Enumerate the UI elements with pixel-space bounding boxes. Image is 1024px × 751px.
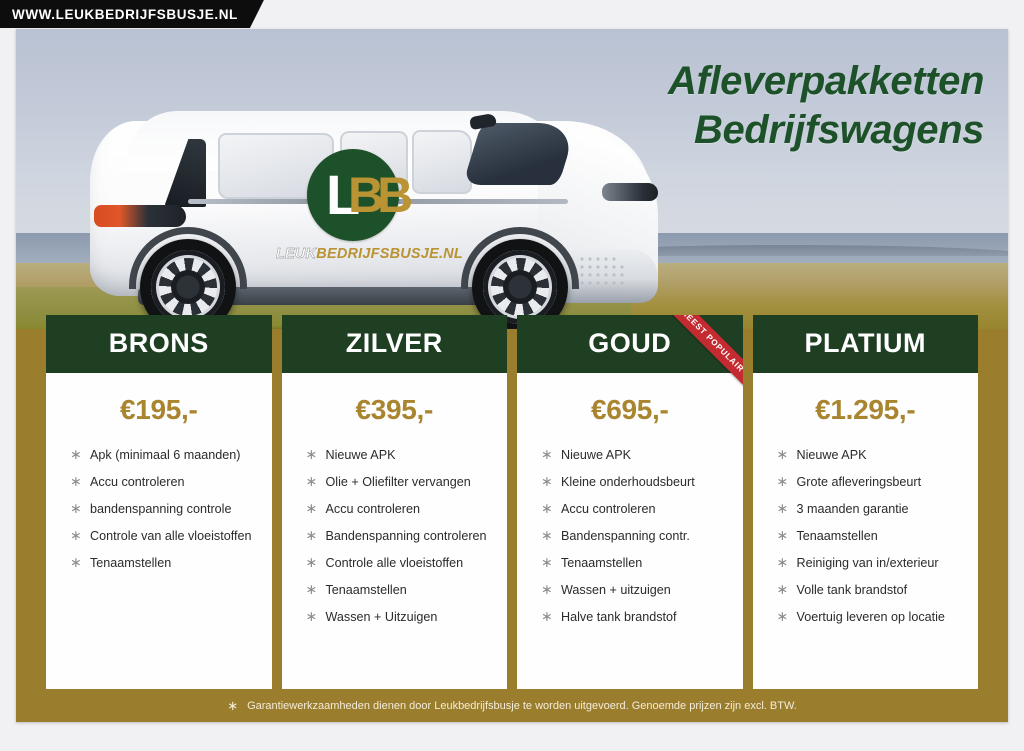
package-price: €695,- xyxy=(517,394,743,426)
wheel-hub xyxy=(503,270,537,304)
pricing-card-goud[interactable]: GOUD MEEST POPULAIR €695,- Nieuwe APK Kl… xyxy=(517,315,743,689)
card-body: €395,- Nieuwe APK Olie + Oliefilter verv… xyxy=(282,373,508,689)
list-item: Bandenspanning controleren xyxy=(304,529,498,543)
card-body: €195,- Apk (minimaal 6 maanden) Accu con… xyxy=(46,373,272,689)
logo-url: LEUKBEDRIJFSBUSJE.NL xyxy=(276,246,430,262)
logo-circle-icon: L BB xyxy=(307,149,399,241)
package-price: €1.295,- xyxy=(753,394,979,426)
van-taillight xyxy=(94,205,186,227)
company-logo: L BB LEUKBEDRIJFSBUSJE.NL xyxy=(276,149,430,262)
package-name: BRONS xyxy=(109,328,209,358)
pricing-card-brons[interactable]: BRONS €195,- Apk (minimaal 6 maanden) Ac… xyxy=(46,315,272,689)
pricing-card-zilver[interactable]: ZILVER €395,- Nieuwe APK Olie + Oliefilt… xyxy=(282,315,508,689)
list-item: Controle alle vloeistoffen xyxy=(304,556,498,570)
list-item: Voertuig leveren op locatie xyxy=(775,610,969,624)
flyer-card: L BB LEUKBEDRIJFSBUSJE.NL Afleverpakkett… xyxy=(16,29,1008,722)
card-header: ZILVER xyxy=(282,315,508,373)
package-price: €195,- xyxy=(46,394,272,426)
logo-url-part2: BEDRIJFSBUSJE.NL xyxy=(316,246,463,262)
list-item: Kleine onderhoudsbeurt xyxy=(539,475,733,489)
feature-list: Apk (minimaal 6 maanden) Accu controlere… xyxy=(46,448,272,570)
list-item: Volle tank brandstof xyxy=(775,583,969,597)
list-item: Accu controleren xyxy=(539,502,733,516)
pricing-card-platium[interactable]: PLATIUM €1.295,- Nieuwe APK Grote afleve… xyxy=(753,315,979,689)
feature-list: Nieuwe APK Olie + Oliefilter vervangen A… xyxy=(282,448,508,624)
list-item: Apk (minimaal 6 maanden) xyxy=(68,448,262,462)
feature-list: Nieuwe APK Grote afleveringsbeurt 3 maan… xyxy=(753,448,979,624)
list-item: Tenaamstellen xyxy=(539,556,733,570)
list-item: Nieuwe APK xyxy=(304,448,498,462)
van-windshield xyxy=(463,123,578,185)
package-name: PLATIUM xyxy=(805,328,926,358)
list-item: Tenaamstellen xyxy=(68,556,262,570)
list-item: bandenspanning controle xyxy=(68,502,262,516)
pricing-grid: BRONS €195,- Apk (minimaal 6 maanden) Ac… xyxy=(16,315,1008,689)
list-item: Grote afleveringsbeurt xyxy=(775,475,969,489)
list-item: Reiniging van in/exterieur xyxy=(775,556,969,570)
site-url-text: WWW.LEUKBEDRIJFSBUSJE.NL xyxy=(12,7,238,22)
headline-line-1: Afleverpakketten xyxy=(668,57,984,106)
list-item: Wassen + Uitzuigen xyxy=(304,610,498,624)
card-header: BRONS xyxy=(46,315,272,373)
card-header: GOUD xyxy=(517,315,743,373)
list-item: Nieuwe APK xyxy=(539,448,733,462)
footer-disclaimer: ∗ Garantiewerkzaamheden dienen door Leuk… xyxy=(16,689,1008,722)
footer-bullet-icon: ∗ xyxy=(227,698,238,714)
list-item: Wassen + uitzuigen xyxy=(539,583,733,597)
list-item: 3 maanden garantie xyxy=(775,502,969,516)
list-item: Accu controleren xyxy=(68,475,262,489)
van-grille xyxy=(578,255,624,297)
page-root: WWW.LEUKBEDRIJFSBUSJE.NL xyxy=(0,0,1024,751)
site-url-banner: WWW.LEUKBEDRIJFSBUSJE.NL xyxy=(0,0,264,28)
package-name: ZILVER xyxy=(346,328,443,358)
card-body: €695,- Nieuwe APK Kleine onderhoudsbeurt… xyxy=(517,373,743,689)
list-item: Controle van alle vloeistoffen xyxy=(68,529,262,543)
feature-list: Nieuwe APK Kleine onderhoudsbeurt Accu c… xyxy=(517,448,743,624)
list-item: Accu controleren xyxy=(304,502,498,516)
list-item: Olie + Oliefilter vervangen xyxy=(304,475,498,489)
package-price: €395,- xyxy=(282,394,508,426)
footer-note-text: Garantiewerkzaamheden dienen door Leukbe… xyxy=(247,700,797,712)
hero-photo: L BB LEUKBEDRIJFSBUSJE.NL Afleverpakkett… xyxy=(16,29,1008,329)
logo-url-part1: LEUK xyxy=(276,246,316,262)
hero-headline: Afleverpakketten Bedrijfswagens xyxy=(668,57,984,155)
headline-line-2: Bedrijfswagens xyxy=(668,106,984,155)
van-headlight xyxy=(602,183,658,201)
list-item: Tenaamstellen xyxy=(304,583,498,597)
wheel-hub xyxy=(171,270,205,304)
list-item: Tenaamstellen xyxy=(775,529,969,543)
card-body: €1.295,- Nieuwe APK Grote afleveringsbeu… xyxy=(753,373,979,689)
list-item: Bandenspanning contr. xyxy=(539,529,733,543)
list-item: Nieuwe APK xyxy=(775,448,969,462)
logo-letter-bb: BB xyxy=(348,167,406,223)
package-name: GOUD xyxy=(588,328,671,358)
card-header: PLATIUM xyxy=(753,315,979,373)
list-item: Halve tank brandstof xyxy=(539,610,733,624)
van-illustration: L BB LEUKBEDRIJFSBUSJE.NL xyxy=(68,99,668,329)
